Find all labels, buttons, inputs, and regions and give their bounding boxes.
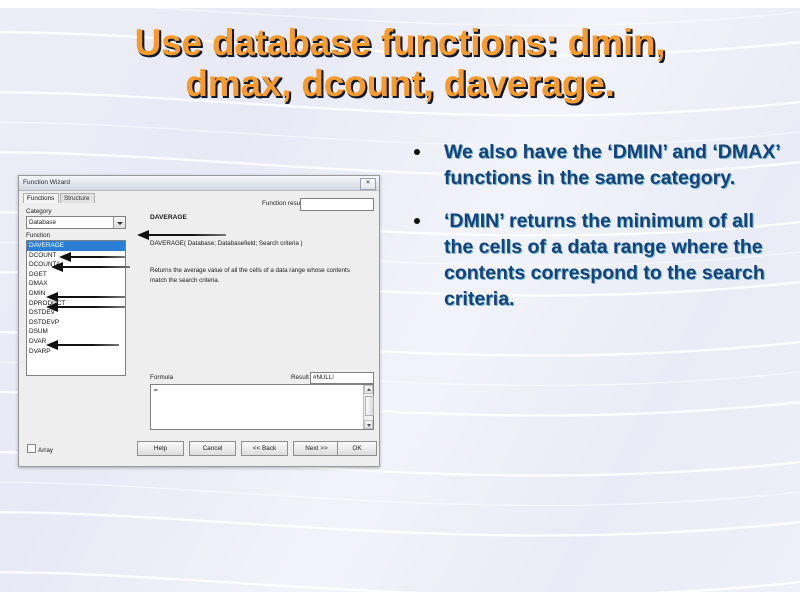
ok-button[interactable]: OK — [337, 441, 377, 456]
formula-input[interactable]: = — [150, 384, 374, 430]
array-label: Array — [38, 447, 53, 454]
bullet-dot-icon — [414, 149, 420, 155]
formula-value: = — [154, 387, 158, 394]
slide-canvas: Use database functions: dmin, dmax, dcou… — [0, 0, 800, 600]
category-label: Category — [26, 208, 52, 215]
slide-title: Use database functions: dmin, dmax, dcou… — [40, 22, 760, 105]
chevron-down-icon[interactable] — [113, 217, 125, 228]
bullet-text: ‘DMIN’ returns the minimum of all the ce… — [444, 210, 765, 310]
function-result-label: Function result — [262, 200, 303, 207]
dialog-title: Function Wizard — [23, 179, 70, 186]
list-item[interactable]: DSTDEV — [27, 308, 125, 318]
list-item[interactable]: DGET — [27, 270, 125, 280]
result-field: #NULL! — [310, 372, 374, 384]
close-icon[interactable]: ✕ — [360, 178, 376, 190]
help-button[interactable]: Help — [137, 441, 184, 456]
function-label: Function — [26, 232, 50, 239]
list-item[interactable]: DMAX — [27, 279, 125, 289]
dialog-tabs: Functions Structure — [23, 193, 94, 204]
function-info-panel: DAVERAGE DAVERAGE( Database; Databasefie… — [132, 214, 372, 370]
function-result-field[interactable] — [300, 198, 374, 211]
category-value: Database — [29, 219, 56, 226]
back-button[interactable]: << Back — [241, 441, 288, 456]
function-syntax: DAVERAGE( Database; Databasefield; Searc… — [150, 240, 303, 247]
formula-label: Formula — [150, 374, 173, 381]
list-item[interactable]: DAVERAGE — [27, 241, 125, 251]
array-checkbox[interactable]: Array — [27, 444, 53, 454]
scroll-down-icon[interactable] — [364, 420, 373, 429]
bullet-dot-icon — [414, 218, 420, 224]
function-description: Returns the average value of all the cel… — [150, 266, 364, 285]
scroll-up-icon[interactable] — [364, 385, 373, 394]
bullet-list: We also have the ‘DMIN’ and ‘DMAX’ funct… — [408, 140, 780, 330]
list-item[interactable]: DCOUNTA — [27, 260, 125, 270]
list-item: We also have the ‘DMIN’ and ‘DMAX’ funct… — [408, 140, 780, 192]
result-label: Result — [291, 374, 309, 381]
scrollbar-thumb[interactable] — [365, 396, 374, 416]
category-select[interactable]: Database — [26, 216, 126, 229]
next-button[interactable]: Next >> — [293, 441, 340, 456]
cancel-button[interactable]: Cancel — [189, 441, 236, 456]
tab-functions[interactable]: Functions — [23, 193, 59, 203]
tab-structure[interactable]: Structure — [60, 193, 95, 203]
list-item[interactable]: DSUM — [27, 327, 125, 337]
formula-scrollbar[interactable] — [363, 385, 373, 429]
dialog-titlebar: Function Wizard ✕ — [19, 176, 379, 191]
list-item[interactable]: DVARP — [27, 347, 125, 357]
bullet-text: We also have the ‘DMIN’ and ‘DMAX’ funct… — [444, 141, 780, 189]
result-value: #NULL! — [313, 374, 334, 381]
checkbox-box-icon[interactable] — [27, 444, 36, 453]
function-name-heading: DAVERAGE — [150, 214, 187, 221]
function-wizard-dialog: Function Wizard ✕ Functions Structure Ca… — [18, 175, 380, 467]
list-item[interactable]: DSTDEVP — [27, 318, 125, 328]
list-item: ‘DMIN’ returns the minimum of all the ce… — [408, 209, 780, 313]
